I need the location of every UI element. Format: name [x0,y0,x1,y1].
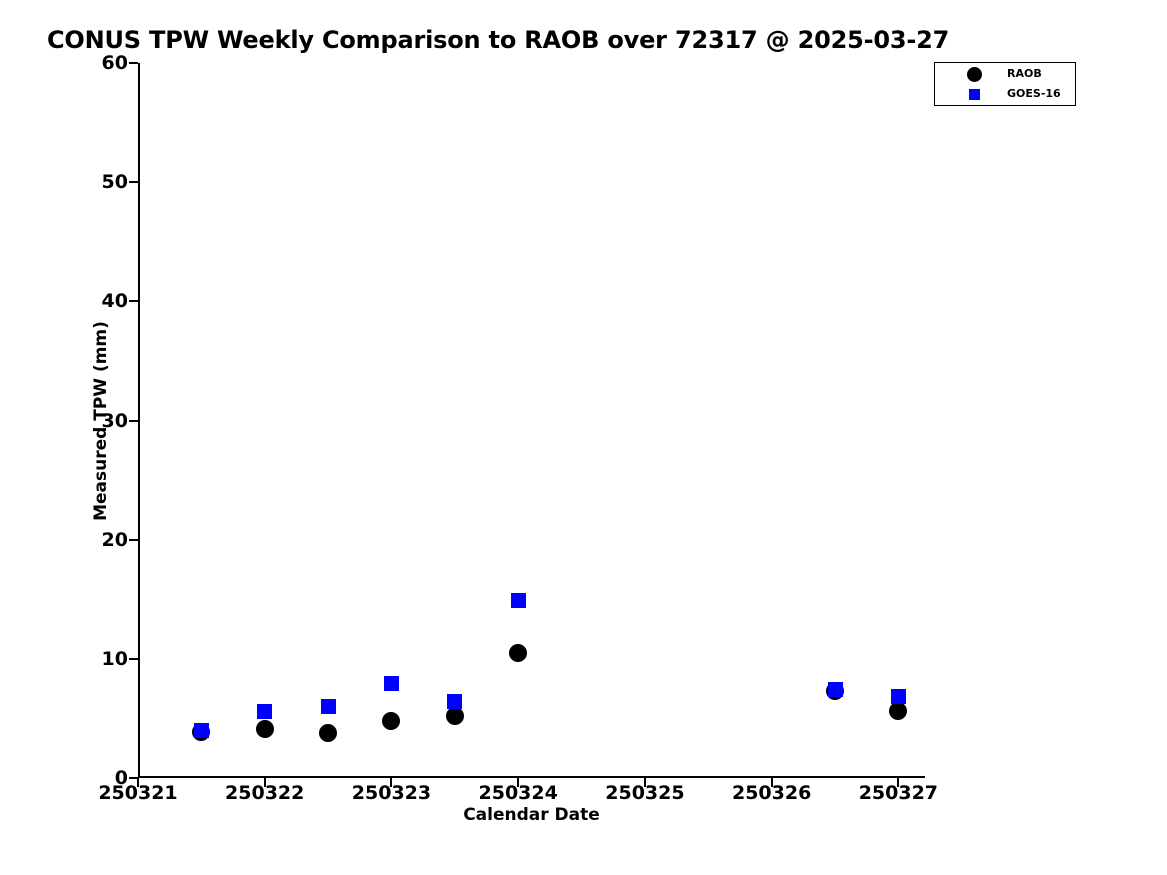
y-tick-mark [129,300,138,302]
y-tick-label: 40 [60,290,128,312]
data-point-raob [319,724,337,742]
x-tick-label: 250324 [448,782,588,804]
legend-marker-square [969,89,980,100]
y-tick-mark [129,539,138,541]
legend-marker-circle [967,67,982,82]
y-tick-mark [129,658,138,660]
x-tick-label: 250322 [195,782,335,804]
chart-legend: RAOBGOES-16 [934,62,1076,106]
plot-area [138,63,925,778]
data-point-goes-16 [194,723,209,738]
x-tick-label: 250326 [702,782,842,804]
data-point-raob [256,720,274,738]
data-point-goes-16 [891,689,906,704]
y-tick-label: 60 [60,52,128,74]
x-axis-line [138,776,925,778]
x-tick-label: 250327 [828,782,968,804]
data-point-raob [382,712,400,730]
y-axis-line [138,63,140,778]
data-point-goes-16 [257,704,272,719]
legend-label: GOES-16 [1007,87,1061,100]
x-tick-label: 250323 [321,782,461,804]
data-point-goes-16 [321,699,336,714]
y-tick-label: 20 [60,529,128,551]
y-tick-mark [129,62,138,64]
data-point-goes-16 [511,593,526,608]
data-point-goes-16 [828,682,843,697]
data-point-raob [446,707,464,725]
y-tick-label: 10 [60,648,128,670]
legend-label: RAOB [1007,67,1042,80]
y-tick-mark [129,181,138,183]
x-axis-label: Calendar Date [138,805,925,825]
legend-entry: GOES-16 [935,84,1075,105]
data-point-goes-16 [384,676,399,691]
y-tick-label: 30 [60,410,128,432]
y-tick-mark [129,420,138,422]
data-point-goes-16 [447,694,462,709]
x-tick-label: 250325 [575,782,715,804]
data-point-raob [889,702,907,720]
chart-canvas: CONUS TPW Weekly Comparison to RAOB over… [0,0,1167,875]
chart-title: CONUS TPW Weekly Comparison to RAOB over… [47,26,949,54]
x-tick-label: 250321 [68,782,208,804]
y-tick-label: 50 [60,171,128,193]
legend-entry: RAOB [935,64,1075,85]
data-point-raob [509,644,527,662]
